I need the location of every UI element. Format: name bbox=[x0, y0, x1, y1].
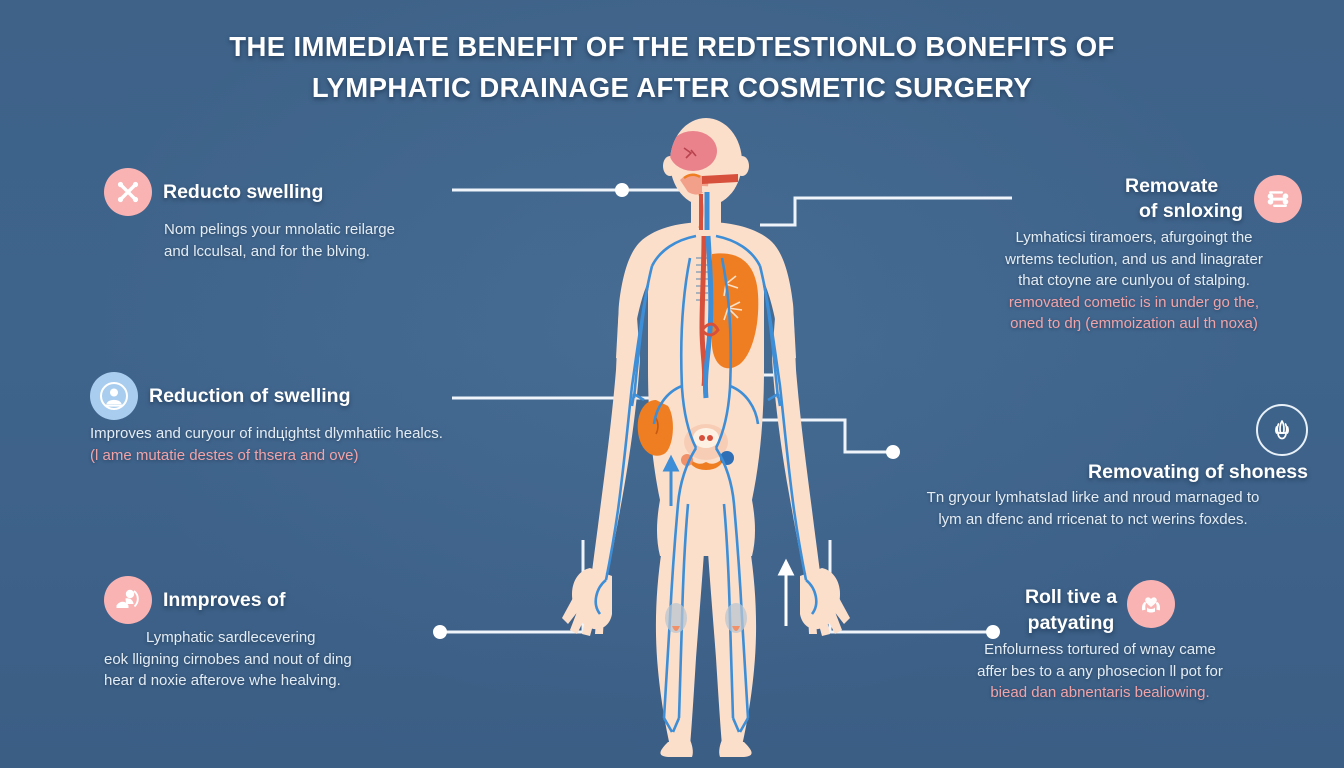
human-lymphatic-system-illustration bbox=[556, 118, 856, 758]
callout-head: Reduction of swelling bbox=[90, 372, 510, 420]
callout-head: Inmproves of bbox=[104, 576, 504, 624]
callout-title-line: patyating bbox=[1025, 610, 1117, 636]
callout-body-line: Enfolurness tortured of wnay came bbox=[900, 639, 1300, 661]
callout-body-line: Nom pelings your mnolatic reilarge bbox=[164, 219, 444, 241]
callout-title: Reducto swelling bbox=[163, 180, 323, 204]
callout-body: Lymhaticsi tiramoers, afurgoingt the wrt… bbox=[964, 227, 1304, 335]
callout-accent-line: (l ame mutatie destes of thsera and ove) bbox=[90, 445, 510, 467]
callout-removating-of-shoness[interactable]: Removating of shoness Tn gryour lymhatsI… bbox=[878, 404, 1308, 530]
page-title: THE IMMEDIATE BENEFIT OF THE REDTESTIONL… bbox=[152, 26, 1192, 108]
callout-title: Inmproves of bbox=[163, 588, 285, 612]
callout-title: Roll tive a patyating bbox=[1025, 584, 1117, 636]
callout-body-line: eok lligning cirnobes and nout of ding bbox=[104, 649, 504, 671]
praying-hands-icon bbox=[1256, 404, 1308, 456]
callout-title-line: Removate bbox=[1125, 174, 1243, 199]
callout-title-line: of snloxing bbox=[1125, 199, 1243, 224]
callout-accent-line: biead dan abnentaris bealiowing. bbox=[900, 682, 1300, 704]
callout-title: Reduction of swelling bbox=[149, 384, 351, 408]
bone-icon bbox=[1254, 175, 1302, 223]
callout-reduce-swelling[interactable]: Reducto swelling Nom pelings your mnolat… bbox=[104, 168, 444, 262]
callout-improves-of[interactable]: Inmproves of Lymphatic sardlecevering eo… bbox=[104, 576, 504, 692]
callout-head: Reducto swelling bbox=[104, 168, 444, 216]
callout-body-line: hear d noxie afterove whe healving. bbox=[104, 670, 504, 692]
callout-removate-of-snloxing[interactable]: Removate of snloxing Lymhaticsi tiramoer… bbox=[982, 174, 1302, 335]
callout-body-line: affer bes to a any phosecion ll pot for bbox=[900, 661, 1300, 683]
callout-title: Removate of snloxing bbox=[1125, 174, 1243, 224]
callout-head bbox=[878, 404, 1308, 456]
callout-body-line: Tn gryour lymhatsIad lirke and nroud mar… bbox=[878, 487, 1308, 509]
hands-heart-icon bbox=[1127, 580, 1175, 628]
callout-body-line: wrtems teclution, and us and linagrater bbox=[964, 249, 1304, 271]
callout-body: Enfolurness tortured of wnay came affer … bbox=[900, 639, 1300, 704]
callout-roll-tive-a-patyating[interactable]: Roll tive a patyating Enfolurness tortur… bbox=[900, 580, 1300, 704]
callout-body-line: Improves and curyour of indцightst dlymh… bbox=[90, 423, 510, 445]
crossed-tools-icon bbox=[104, 168, 152, 216]
callout-body: Nom pelings your mnolatic reilarge and l… bbox=[164, 219, 444, 262]
callout-head: Roll tive a patyating bbox=[900, 580, 1300, 636]
callout-body-line: lym an dfenc and rricenat to nct werins … bbox=[878, 509, 1308, 531]
callout-body: Improves and curyour of indцightst dlymh… bbox=[90, 423, 510, 466]
callout-title: Removating of shoness bbox=[878, 460, 1308, 484]
callout-body-line: Lymphatic sardlecevering bbox=[146, 627, 504, 649]
callout-head: Removate of snloxing bbox=[982, 174, 1302, 224]
callout-reduction-of-swelling[interactable]: Reduction of swelling Improves and curyo… bbox=[90, 372, 510, 466]
callout-body: Lymphatic sardlecevering eok lligning ci… bbox=[104, 627, 504, 692]
callout-body-line: that ctoyne are cunlyou of stalping. bbox=[964, 270, 1304, 292]
callout-title-line: Roll tive a bbox=[1025, 584, 1117, 610]
person-avatar-icon bbox=[90, 372, 138, 420]
massage-person-icon bbox=[104, 576, 152, 624]
callout-body: Tn gryour lymhatsIad lirke and nroud mar… bbox=[878, 487, 1308, 530]
callout-body-line: and lcculsal, and for the blving. bbox=[164, 241, 444, 263]
infographic-canvas: THE IMMEDIATE BENEFIT OF THE REDTESTIONL… bbox=[0, 0, 1344, 768]
callout-accent-line: removated cometic is in under go the, bbox=[964, 292, 1304, 314]
title-line-2: LYMPHATIC DRAINAGE AFTER COSMETIC SURGER… bbox=[152, 67, 1192, 108]
callout-accent-line: oned to dŋ (emmoization aul th noxa) bbox=[964, 313, 1304, 335]
title-line-1: THE IMMEDIATE BENEFIT OF THE REDTESTIONL… bbox=[152, 26, 1192, 67]
callout-body-line: Lymhaticsi tiramoers, afurgoingt the bbox=[964, 227, 1304, 249]
